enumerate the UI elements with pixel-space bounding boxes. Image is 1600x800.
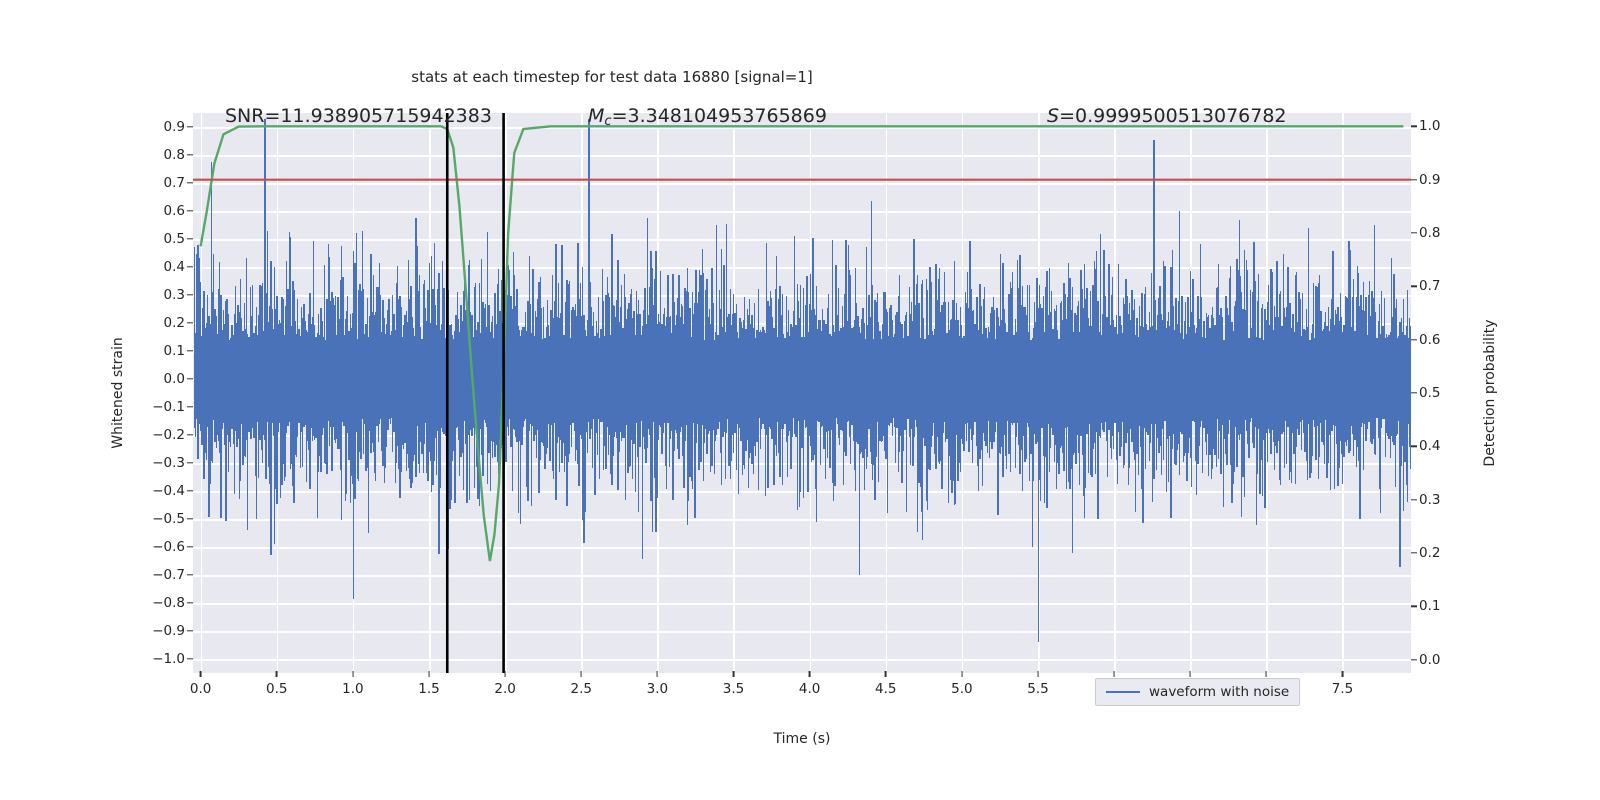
y-tick-left: 0.5 — [164, 231, 185, 247]
tick-mark — [581, 671, 582, 677]
tick-mark — [187, 266, 193, 267]
x-tick: 4.0 — [799, 681, 820, 697]
legend-swatch-waveform — [1106, 691, 1140, 694]
y-tick-right: 0.7 — [1419, 278, 1440, 294]
tick-mark — [187, 602, 193, 603]
tick-mark — [187, 518, 193, 519]
y-tick-right: 0.3 — [1419, 492, 1440, 508]
tick-mark — [187, 462, 193, 463]
tick-mark — [1342, 671, 1343, 677]
tick-mark — [187, 182, 193, 183]
tick-mark — [1113, 671, 1114, 677]
y-tick-left: 0.2 — [164, 315, 185, 331]
y-tick-right: 1.0 — [1419, 118, 1440, 134]
y-axis-left-label: Whitened strain — [110, 337, 126, 448]
y-tick-left: 0.9 — [164, 119, 185, 135]
x-tick: 1.0 — [342, 681, 363, 697]
y-tick-right: 0.2 — [1419, 545, 1440, 561]
tick-mark — [187, 574, 193, 575]
tick-mark — [1037, 671, 1038, 677]
y-tick-left: −1.0 — [152, 651, 185, 667]
tick-mark — [1411, 606, 1417, 607]
tick-mark — [1411, 659, 1417, 660]
y-tick-left: 0.6 — [164, 203, 185, 219]
snr-text: SNR=11.938905715942383 — [225, 105, 492, 127]
tick-mark — [187, 434, 193, 435]
chirp-mass-value: =3.348104953765869 — [612, 105, 827, 127]
y-tick-left: −0.8 — [152, 595, 185, 611]
legend-label-waveform: waveform with noise — [1149, 684, 1289, 700]
tick-mark — [187, 490, 193, 491]
y-tick-left: 0.8 — [164, 147, 185, 163]
x-tick: 1.5 — [418, 681, 439, 697]
tick-mark — [187, 378, 193, 379]
tick-mark — [1411, 179, 1417, 180]
tick-mark — [1411, 232, 1417, 233]
tick-mark — [1411, 446, 1417, 447]
y-tick-left: −0.5 — [152, 511, 185, 527]
x-axis-label: Time (s) — [774, 731, 831, 747]
snr-annotation: SNR=11.938905715942383 — [225, 105, 492, 127]
y-tick-left: −0.9 — [152, 623, 185, 639]
tick-mark — [1411, 499, 1417, 500]
tick-mark — [504, 671, 505, 677]
tick-mark — [1411, 392, 1417, 393]
tick-mark — [885, 671, 886, 677]
tick-mark — [187, 238, 193, 239]
tick-mark — [1266, 671, 1267, 677]
tick-mark — [733, 671, 734, 677]
y-tick-left: 0.3 — [164, 287, 185, 303]
chirp-mass-annotation: Mc=3.348104953765869 — [588, 105, 827, 129]
y-tick-right: 0.1 — [1419, 598, 1440, 614]
y-tick-right: 0.8 — [1419, 225, 1440, 241]
tick-mark — [657, 671, 658, 677]
y-tick-left: 0.4 — [164, 259, 185, 275]
tick-mark — [187, 406, 193, 407]
y-tick-left: −0.3 — [152, 455, 185, 471]
tick-mark — [1190, 671, 1191, 677]
x-tick: 2.5 — [570, 681, 591, 697]
y-tick-left: −0.6 — [152, 539, 185, 555]
score-value: =0.9999500513076782 — [1059, 105, 1286, 127]
tick-mark — [1411, 339, 1417, 340]
tick-mark — [187, 350, 193, 351]
x-tick: 2.0 — [494, 681, 515, 697]
x-tick: 7.5 — [1332, 681, 1353, 697]
chirp-mass-symbol: M — [588, 105, 604, 127]
tick-mark — [187, 546, 193, 547]
y-tick-right: 0.9 — [1419, 172, 1440, 188]
score-symbol: S — [1047, 105, 1059, 127]
x-tick: 3.5 — [723, 681, 744, 697]
y-tick-left: −0.2 — [152, 427, 185, 443]
y-tick-left: 0.0 — [164, 371, 185, 387]
y-tick-left: −0.4 — [152, 483, 185, 499]
tick-mark — [1411, 286, 1417, 287]
x-tick: 5.0 — [951, 681, 972, 697]
page-title: stats at each timestep for test data 168… — [0, 68, 1412, 86]
plot-area — [193, 113, 1411, 673]
figure: stats at each timestep for test data 168… — [0, 0, 1600, 800]
y-tick-right: 0.4 — [1419, 438, 1440, 454]
tick-mark — [961, 671, 962, 677]
signal-window-vlines — [193, 113, 1411, 673]
tick-mark — [187, 322, 193, 323]
x-tick: 0.5 — [266, 681, 287, 697]
tick-mark — [187, 658, 193, 659]
tick-mark — [276, 671, 277, 677]
y-tick-left: 0.7 — [164, 175, 185, 191]
tick-mark — [187, 630, 193, 631]
tick-mark — [1411, 552, 1417, 553]
tick-mark — [428, 671, 429, 677]
x-tick: 0.0 — [190, 681, 211, 697]
y-tick-right: 0.6 — [1419, 332, 1440, 348]
y-tick-right: 0.0 — [1419, 652, 1440, 668]
chirp-mass-subscript: c — [604, 114, 611, 129]
y-tick-left: 0.1 — [164, 343, 185, 359]
tick-mark — [1411, 126, 1417, 127]
legend: waveform with noise — [1095, 678, 1300, 706]
tick-mark — [187, 154, 193, 155]
tick-mark — [187, 126, 193, 127]
tick-mark — [352, 671, 353, 677]
y-tick-left: −0.1 — [152, 399, 185, 415]
tick-mark — [809, 671, 810, 677]
x-tick: 5.5 — [1027, 681, 1048, 697]
tick-mark — [200, 671, 201, 677]
y-tick-right: 0.5 — [1419, 385, 1440, 401]
y-axis-right-label: Detection probability — [1482, 319, 1498, 466]
x-tick: 3.0 — [647, 681, 668, 697]
y-tick-left: −0.7 — [152, 567, 185, 583]
score-annotation: S=0.9999500513076782 — [1047, 105, 1287, 127]
x-tick: 4.5 — [875, 681, 896, 697]
tick-mark — [187, 294, 193, 295]
tick-mark — [187, 210, 193, 211]
